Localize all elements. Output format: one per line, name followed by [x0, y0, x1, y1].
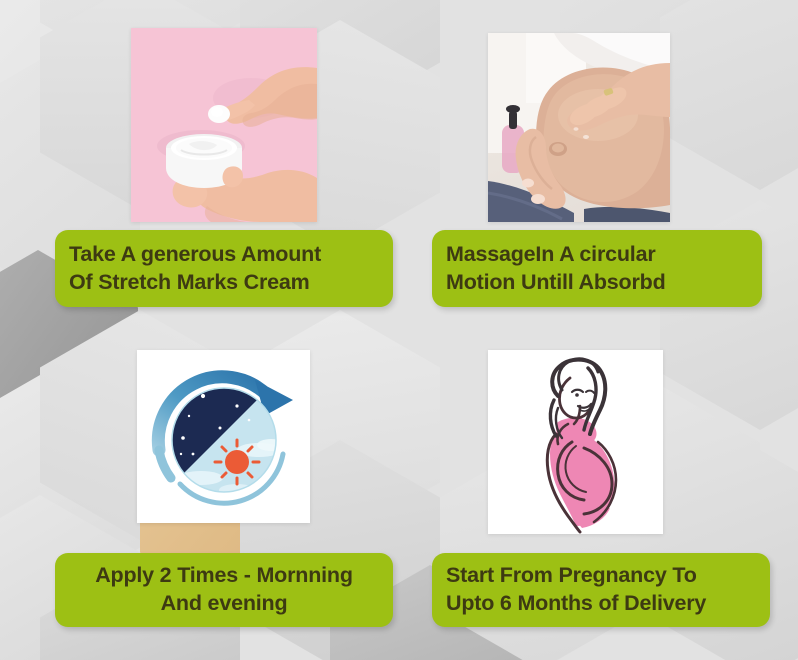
stretch-mark-cream-infographic: Take A generous Amount Of Stretch Marks … [0, 0, 798, 660]
step-1-label-pill: Take A generous Amount Of Stretch Marks … [55, 230, 393, 307]
pregnant-woman-illustration-glyph [488, 350, 663, 534]
step-3-label-line-1: Apply 2 Times - Mornning [69, 562, 379, 590]
belly-photo-illustration [488, 33, 670, 222]
step-1-label-line-1: Take A generous Amount [69, 241, 379, 269]
step-4-label-line-2: Upto 6 Months of Delivery [446, 590, 756, 618]
step-4-media-pregnant-woman-illustration [488, 350, 663, 534]
step-2-label-line-2: Motion Untill Absorbd [446, 269, 748, 297]
day-night-cycle-icon-glyph [137, 350, 310, 523]
step-2-label-line-1: MassageIn A circular [446, 241, 748, 269]
step-2-label-pill: MassageIn A circular Motion Untill Absor… [432, 230, 762, 307]
step-4-label-line-1: Start From Pregnancy To [446, 562, 756, 590]
background-hexagon [660, 0, 798, 190]
step-1-label-line-2: Of Stretch Marks Cream [69, 269, 379, 297]
step-2-media-pregnant-belly-massage-photo [488, 33, 670, 222]
step-3-label-line-2: And evening [69, 590, 379, 618]
step-1-media-stretch-marks-cream-photo [131, 28, 317, 222]
step-4-label-pill: Start From Pregnancy To Upto 6 Months of… [432, 553, 770, 627]
step-3-label-pill: Apply 2 Times - Mornning And evening [55, 553, 393, 627]
step-3-media-day-night-cycle-icon [137, 350, 310, 523]
cream-photo-illustration [131, 28, 317, 222]
